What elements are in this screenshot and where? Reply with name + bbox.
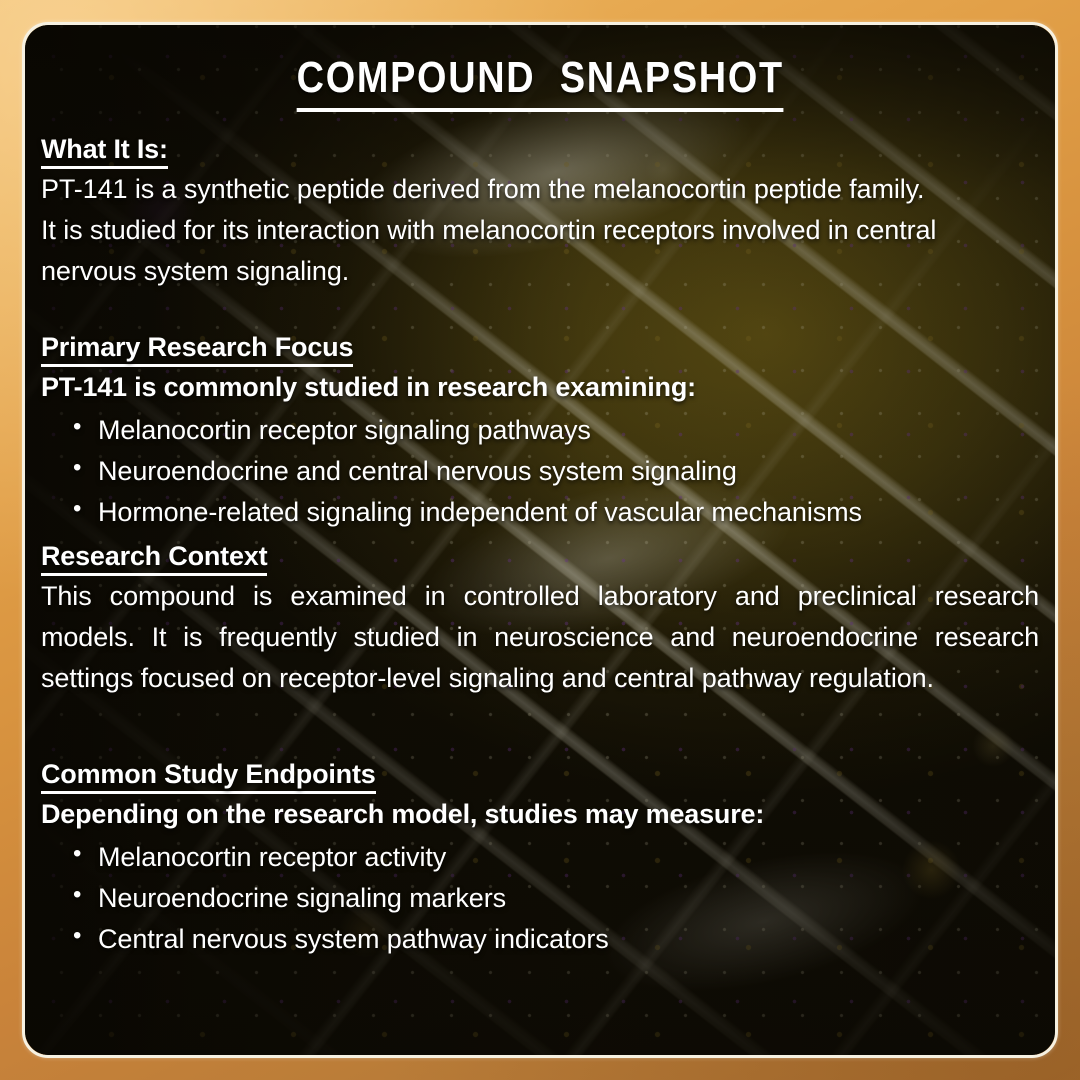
list-item: Central nervous system pathway indicator… <box>71 919 1039 960</box>
section-primary-research-focus: Primary Research Focus PT-141 is commonl… <box>41 332 1039 533</box>
paragraph-what-it-is-1: PT-141 is a synthetic peptide derived fr… <box>41 169 1039 210</box>
section-heading-research-context: Research Context <box>41 541 267 576</box>
paragraph-research-context: This compound is examined in controlled … <box>41 576 1039 699</box>
infographic-card: COMPOUND SNAPSHOT What It Is: PT-141 is … <box>25 25 1055 1055</box>
section-heading-what-it-is: What It Is: <box>41 134 168 169</box>
section-common-study-endpoints: Common Study Endpoints Depending on the … <box>41 759 1039 960</box>
lead-primary-research-focus: PT-141 is commonly studied in research e… <box>41 367 1039 408</box>
page-title: COMPOUND SNAPSHOT <box>296 55 783 112</box>
paragraph-what-it-is-2: It is studied for its interaction with m… <box>41 210 1039 292</box>
bullet-list-primary-research-focus: Melanocortin receptor signaling pathways… <box>41 410 1039 533</box>
list-item: Neuroendocrine and central nervous syste… <box>71 451 1039 492</box>
card-content: COMPOUND SNAPSHOT What It Is: PT-141 is … <box>25 25 1055 1055</box>
section-heading-common-study-endpoints: Common Study Endpoints <box>41 759 376 794</box>
bullet-list-common-study-endpoints: Melanocortin receptor activity Neuroendo… <box>41 837 1039 960</box>
list-item: Neuroendocrine signaling markers <box>71 878 1039 919</box>
section-what-it-is: What It Is: PT-141 is a synthetic peptid… <box>41 134 1039 292</box>
list-item: Melanocortin receptor activity <box>71 837 1039 878</box>
list-item: Hormone-related signaling independent of… <box>71 492 1039 533</box>
lead-common-study-endpoints: Depending on the research model, studies… <box>41 794 1039 835</box>
list-item: Melanocortin receptor signaling pathways <box>71 410 1039 451</box>
section-research-context: Research Context This compound is examin… <box>41 541 1039 699</box>
section-heading-primary-research-focus: Primary Research Focus <box>41 332 353 367</box>
body-area: What It Is: PT-141 is a synthetic peptid… <box>33 134 1047 960</box>
